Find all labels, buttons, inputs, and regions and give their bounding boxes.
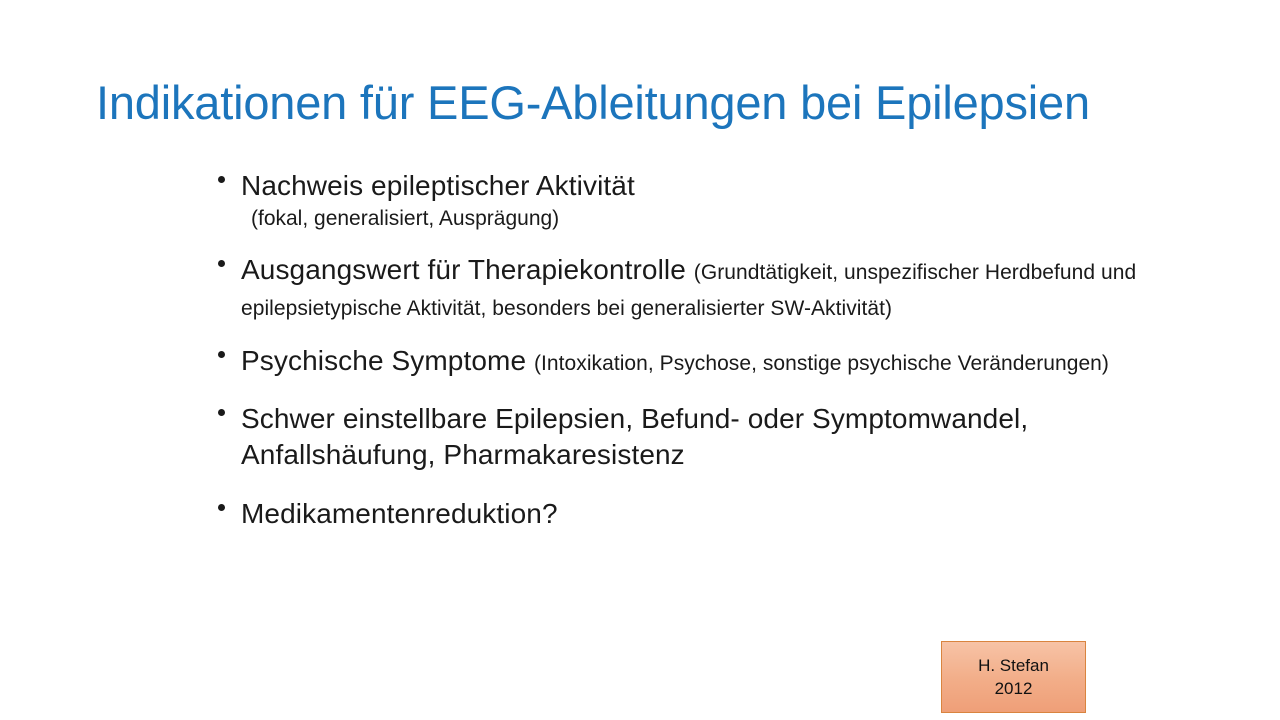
bullet-detail-text: (fokal, generalisiert, Ausprägung)	[241, 204, 1215, 233]
list-item: Medikamentenreduktion?	[205, 496, 1215, 532]
bullet-dot-icon	[218, 260, 225, 267]
bullet-main-text: Nachweis epileptischer Aktivität	[241, 168, 1215, 204]
attribution-author: H. Stefan	[978, 654, 1049, 677]
list-item: Nachweis epileptischer Aktivität (fokal,…	[205, 168, 1215, 234]
bullet-list: Nachweis epileptischer Aktivität (fokal,…	[205, 168, 1215, 532]
bullet-dot-icon	[218, 409, 225, 416]
bullet-detail-text: (Intoxikation, Psychose, sonstige psychi…	[534, 352, 1109, 375]
page-title: Indikationen für EEG-Ableitungen bei Epi…	[96, 75, 1196, 130]
attribution-box: H. Stefan 2012	[941, 641, 1086, 713]
bullet-dot-icon	[218, 176, 225, 183]
bullet-main-text: Ausgangswert für Therapiekontrolle (Grun…	[241, 252, 1215, 325]
bullet-dot-icon	[218, 504, 225, 511]
bullet-main-label: Psychische Symptome	[241, 345, 534, 376]
bullet-main-text: Schwer einstellbare Epilepsien, Befund- …	[241, 401, 1215, 474]
slide-canvas: Indikationen für EEG-Ableitungen bei Epi…	[0, 0, 1280, 720]
bullet-main-text: Psychische Symptome (Intoxikation, Psych…	[241, 343, 1215, 379]
list-item: Ausgangswert für Therapiekontrolle (Grun…	[205, 252, 1215, 325]
attribution-year: 2012	[995, 677, 1033, 700]
bullet-dot-icon	[218, 351, 225, 358]
bullet-main-text: Medikamentenreduktion?	[241, 496, 1215, 532]
list-item: Psychische Symptome (Intoxikation, Psych…	[205, 343, 1215, 379]
bullet-main-label: Ausgangswert für Therapiekontrolle	[241, 254, 694, 285]
list-item: Schwer einstellbare Epilepsien, Befund- …	[205, 401, 1215, 474]
